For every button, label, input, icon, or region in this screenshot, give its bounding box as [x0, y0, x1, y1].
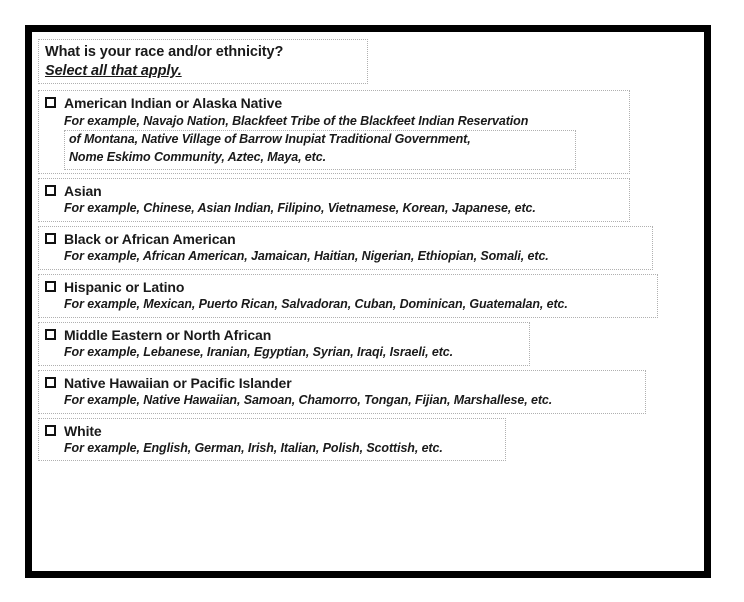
option-label: American Indian or Alaska Native — [64, 94, 282, 112]
option-example-text: For example, Native Hawaiian, Samoan, Ch… — [64, 392, 640, 410]
option-example-text: For example, Navajo Nation, Blackfeet Tr… — [64, 113, 624, 131]
option-header[interactable]: Asian — [45, 182, 624, 200]
option-label: Black or African American — [64, 230, 236, 248]
form-content: What is your race and/or ethnicity? Sele… — [32, 32, 704, 571]
option-row[interactable]: Black or African AmericanFor example, Af… — [38, 226, 653, 270]
option-example-text: For example, Lebanese, Iranian, Egyptian… — [64, 344, 524, 362]
option-row[interactable]: AsianFor example, Chinese, Asian Indian,… — [38, 178, 630, 222]
options-list: American Indian or Alaska NativeFor exam… — [38, 90, 704, 461]
option-label: Asian — [64, 182, 102, 200]
option-row[interactable]: WhiteFor example, English, German, Irish… — [38, 418, 506, 462]
option-header[interactable]: American Indian or Alaska Native — [45, 94, 624, 112]
option-header[interactable]: Native Hawaiian or Pacific Islander — [45, 374, 640, 392]
option-example-line: Nome Eskimo Community, Aztec, Maya, etc. — [69, 149, 570, 167]
option-example-text: For example, Mexican, Puerto Rican, Salv… — [64, 296, 652, 314]
page-title: What is your race and/or ethnicity? — [45, 43, 362, 62]
empty-checkbox-icon[interactable] — [45, 281, 56, 292]
option-header[interactable]: Black or African American — [45, 230, 647, 248]
empty-checkbox-icon[interactable] — [45, 425, 56, 436]
option-row[interactable]: Hispanic or LatinoFor example, Mexican, … — [38, 274, 658, 318]
empty-checkbox-icon[interactable] — [45, 233, 56, 244]
option-label: Hispanic or Latino — [64, 278, 184, 296]
empty-checkbox-icon[interactable] — [45, 185, 56, 196]
option-label: Middle Eastern or North African — [64, 326, 271, 344]
empty-checkbox-icon[interactable] — [45, 329, 56, 340]
option-example-text: For example, English, German, Irish, Ita… — [64, 440, 500, 458]
option-row[interactable]: Middle Eastern or North AfricanFor examp… — [38, 322, 530, 366]
question-instruction: Select all that apply. — [45, 62, 362, 81]
race-ethnicity-form-frame: What is your race and/or ethnicity? Sele… — [25, 25, 711, 578]
option-row[interactable]: Native Hawaiian or Pacific IslanderFor e… — [38, 370, 646, 414]
question-block: What is your race and/or ethnicity? Sele… — [38, 39, 368, 84]
empty-checkbox-icon[interactable] — [45, 97, 56, 108]
option-example-continuation: of Montana, Native Village of Barrow Inu… — [64, 130, 576, 170]
option-example-text: For example, African American, Jamaican,… — [64, 248, 647, 266]
empty-checkbox-icon[interactable] — [45, 377, 56, 388]
option-example-text: For example, Chinese, Asian Indian, Fili… — [64, 200, 624, 218]
option-label: Native Hawaiian or Pacific Islander — [64, 374, 292, 392]
option-header[interactable]: Hispanic or Latino — [45, 278, 652, 296]
option-example-line: of Montana, Native Village of Barrow Inu… — [69, 131, 570, 149]
option-header[interactable]: Middle Eastern or North African — [45, 326, 524, 344]
option-header[interactable]: White — [45, 422, 500, 440]
option-label: White — [64, 422, 102, 440]
option-row[interactable]: American Indian or Alaska NativeFor exam… — [38, 90, 630, 173]
